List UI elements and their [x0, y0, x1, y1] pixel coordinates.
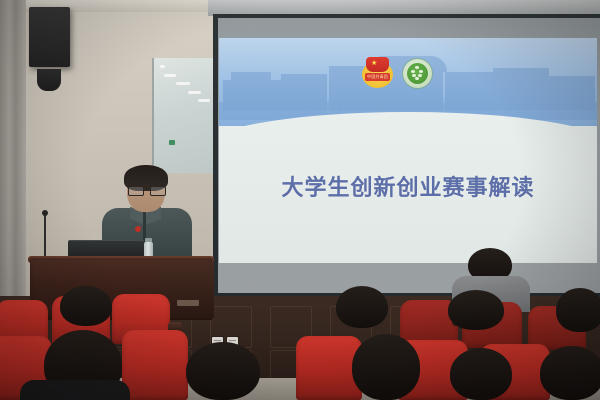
agriculture-wheat-emblem-icon: [403, 59, 432, 88]
whiteboard-glint: [164, 74, 176, 77]
slide-title: 大学生创新创业赛事解读: [219, 170, 597, 202]
audience-head: [60, 286, 112, 326]
audience-head: [448, 290, 504, 330]
audience-head: [450, 348, 512, 400]
gooseneck-microphone: [44, 215, 46, 257]
whiteboard-magnet: [169, 140, 175, 145]
audience-head: [556, 288, 600, 332]
wall-whiteboard: [152, 58, 218, 173]
audience-head: [336, 286, 388, 328]
audience-head: [186, 342, 260, 400]
podium-nameplate: [177, 300, 199, 306]
speaker-driver: [37, 69, 61, 91]
window-curtain: [0, 0, 26, 300]
presenter-glasses-icon: [128, 186, 164, 194]
audience-head: [352, 334, 420, 400]
theater-seat[interactable]: [122, 330, 188, 400]
whiteboard-glint: [188, 91, 201, 94]
whiteboard-glint: [176, 82, 190, 85]
slide-body: 大学生创新创业赛事解读: [219, 126, 597, 263]
whiteboard-glint: [160, 65, 165, 68]
wall-speaker: [29, 7, 70, 67]
whiteboard-glint: [198, 99, 210, 102]
audience-torso: [20, 380, 130, 400]
lecture-hall-photo: ScreenStar 西北农林科技大学 ★: [0, 0, 600, 400]
audience-head: [540, 346, 600, 400]
projected-slide: 西北农林科技大学 ★ 中国共青团 大学生创新创业赛事解读: [219, 38, 597, 263]
presenter-lapel-badge: [135, 226, 141, 232]
slide-banner: 西北农林科技大学 ★ 中国共青团: [219, 38, 597, 128]
communist-youth-league-emblem-icon: ★ 中国共青团: [362, 57, 393, 88]
